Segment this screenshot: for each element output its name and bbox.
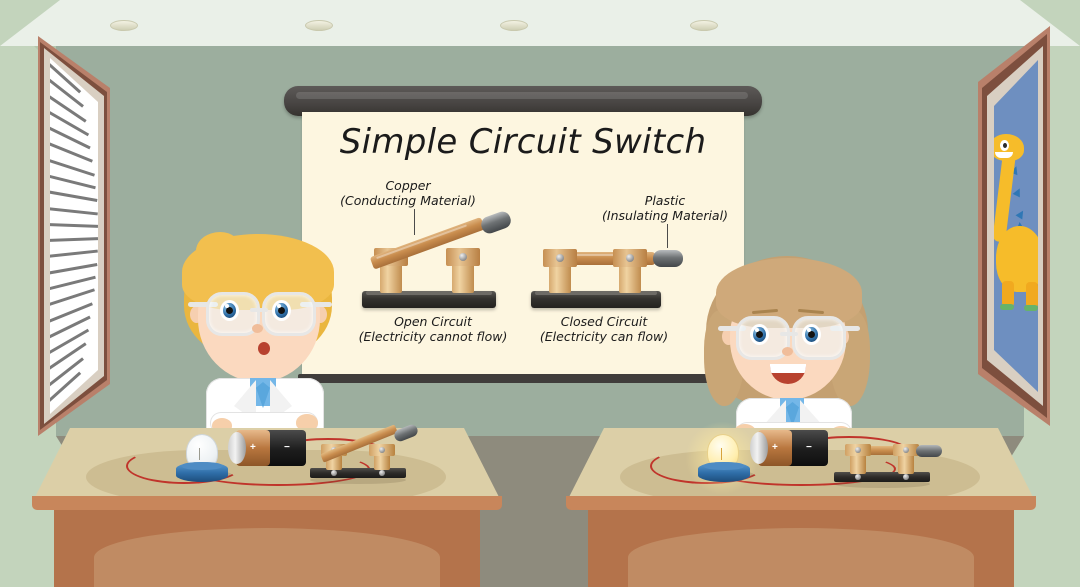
desk-switch-post-right-a xyxy=(850,454,866,474)
caption-closed-line1: Closed Circuit xyxy=(524,314,684,329)
caption-open-line2: (Electricity cannot flow) xyxy=(348,329,518,344)
battery-right-terminal-cap xyxy=(750,432,768,464)
bulb-filament-left xyxy=(199,448,200,460)
caption-open-line1: Open Circuit xyxy=(348,314,518,329)
dinosaur-pupil xyxy=(1003,143,1007,148)
boy-eye-dot-right xyxy=(278,307,285,314)
switch-screw-right xyxy=(459,253,467,261)
battery-right-minus-sign: − xyxy=(806,443,812,453)
switch-post-right xyxy=(619,264,641,293)
battery-left-minus-sign: − xyxy=(284,443,290,453)
window-blind-slat xyxy=(46,190,97,202)
caption-closed-circuit: Closed Circuit (Electricity can flow) xyxy=(524,314,684,344)
desk-switch-post-right-b xyxy=(898,454,914,474)
board-diagram-closed-switch xyxy=(527,232,677,310)
window-blind-slat xyxy=(46,250,98,258)
window-blind-slat xyxy=(45,93,86,122)
window-blind-slat xyxy=(46,276,96,291)
desk-right-panel xyxy=(628,528,974,587)
switch-post-left xyxy=(549,264,571,293)
boy-eye-shine-left xyxy=(225,304,229,308)
battery-left-plus-sign: + xyxy=(250,443,256,453)
desk-switch-screw-left-b xyxy=(379,447,385,453)
boy-eye-dot-left xyxy=(226,307,233,314)
window-blind-slat xyxy=(46,207,98,215)
desk-switch-screw-right-d xyxy=(903,474,909,480)
caption-open-circuit: Open Circuit (Electricity cannot flow) xyxy=(348,314,518,344)
window-blind-slat xyxy=(46,223,98,228)
switch-screw-left xyxy=(556,254,564,262)
desk-switch-screw-right-b xyxy=(903,447,909,453)
desk-switch-right-closed xyxy=(830,438,940,482)
girl-eye-shine-right xyxy=(807,328,811,332)
desk-right-edge xyxy=(566,496,1036,510)
girl-eye-shine-left xyxy=(755,328,759,332)
girl-eye-dot-left xyxy=(756,331,763,338)
switch-post-left xyxy=(380,263,402,293)
desk-left-panel xyxy=(94,528,440,587)
battery-right: + − xyxy=(750,428,828,468)
annotation-plastic-line1: Plastic xyxy=(590,193,740,208)
desk-switch-screw-left-d xyxy=(379,470,385,476)
bulb-base-top-right xyxy=(704,462,744,470)
projector-roller-highlight xyxy=(296,92,748,99)
dinosaur-spike xyxy=(1015,208,1026,219)
switch-knob-plastic xyxy=(653,250,683,267)
boy-goggle-bridge xyxy=(250,308,268,312)
dinosaur-foot xyxy=(1024,305,1038,311)
board-diagram-open-switch xyxy=(358,205,508,310)
battery-right-plus-sign: + xyxy=(772,443,778,453)
dinosaur-poster xyxy=(964,26,1076,426)
student-girl xyxy=(706,250,886,445)
boy-nose xyxy=(252,324,263,333)
annotation-plastic-line2: (Insulating Material) xyxy=(590,208,740,223)
desk-switch-knob-right xyxy=(916,445,942,457)
board-title: Simple Circuit Switch xyxy=(302,122,744,162)
battery-left: + − xyxy=(228,428,306,468)
ceiling-light-4 xyxy=(690,20,718,31)
switch-screw-right xyxy=(626,254,634,262)
window-with-blinds xyxy=(10,36,120,436)
ceiling xyxy=(0,0,1080,46)
girl-eye-dot-right xyxy=(808,331,815,338)
desk-left-edge xyxy=(32,496,502,510)
boy-mouth xyxy=(258,342,270,355)
boy-eye-shine-right xyxy=(277,304,281,308)
girl-teeth xyxy=(770,364,806,373)
bulb-filament-right xyxy=(721,448,722,460)
classroom-scene: Simple Circuit Switch Copper (Conducting… xyxy=(0,0,1080,587)
window-blind-slat xyxy=(46,237,98,242)
girl-nose xyxy=(782,347,793,356)
projector-screen-bottom-bar xyxy=(298,374,748,383)
girl-goggle-bridge xyxy=(780,332,798,336)
caption-closed-line2: (Electricity can flow) xyxy=(524,329,684,344)
window-blind-slat xyxy=(45,109,89,136)
desk-switch-base-left xyxy=(310,468,406,478)
ceiling-light-1 xyxy=(110,20,138,31)
switch-post-right xyxy=(452,263,474,293)
annotation-copper: Copper (Conducting Material) xyxy=(330,178,486,208)
dinosaur-foot xyxy=(1000,304,1014,310)
student-boy xyxy=(178,232,358,442)
bulb-base-top-left xyxy=(182,462,222,470)
desk-switch-screw-left-c xyxy=(331,470,337,476)
desk-switch-left-open xyxy=(306,432,416,480)
dinosaur-spike xyxy=(1013,187,1024,198)
desk-switch-base-right xyxy=(834,472,930,482)
ceiling-light-3 xyxy=(500,20,528,31)
window-blind-slat xyxy=(46,263,97,275)
desk-switch-screw-right-c xyxy=(855,474,861,480)
desk-switch-screw-right-a xyxy=(855,447,861,453)
switch-knob-plastic xyxy=(479,209,513,235)
window-blind-slat xyxy=(46,174,96,189)
battery-left-terminal-cap xyxy=(228,432,246,464)
ceiling-light-2 xyxy=(305,20,333,31)
annotation-copper-line1: Copper xyxy=(330,178,486,193)
annotation-plastic: Plastic (Insulating Material) xyxy=(590,193,740,223)
